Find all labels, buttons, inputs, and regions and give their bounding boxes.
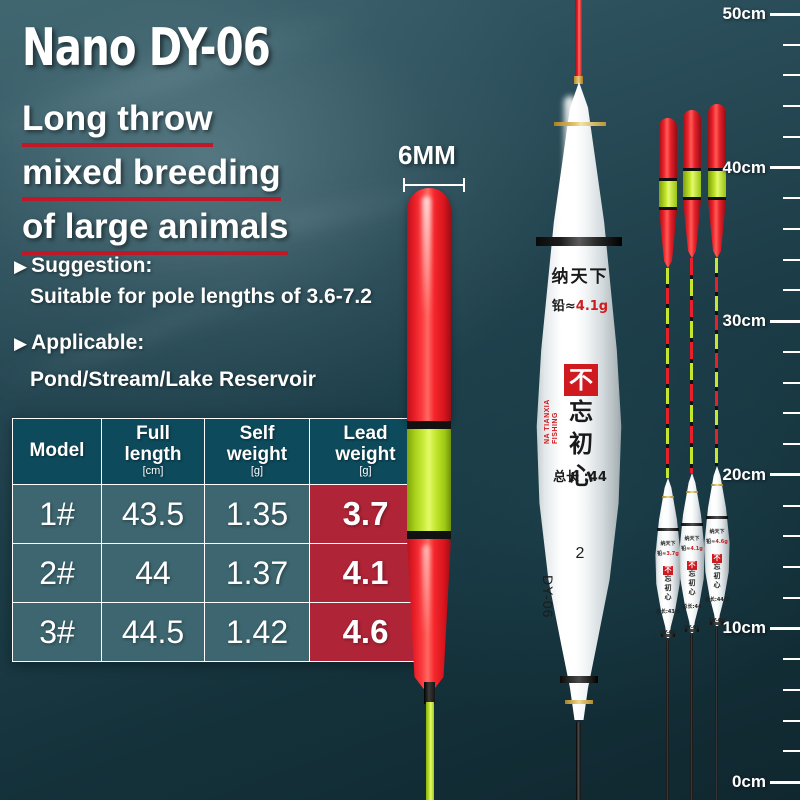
small-float-3-lead: 铅≈4.6g bbox=[703, 538, 731, 545]
main-float-antenna bbox=[575, 0, 582, 80]
red-float-upper-body bbox=[407, 188, 451, 424]
small-seal-char-1: 不 bbox=[663, 566, 673, 575]
small-float-2-seal: 不 忘 初 心 bbox=[687, 561, 697, 597]
small-seal-char-2: 忘 bbox=[663, 575, 673, 584]
cell-model: 1# bbox=[13, 485, 102, 544]
small-float-2-tip-lower bbox=[683, 200, 701, 258]
ruler-minor-tick bbox=[783, 720, 800, 722]
ruler-minor-tick bbox=[783, 505, 800, 507]
red-float-band-upper bbox=[407, 421, 451, 429]
ruler-minor-tick bbox=[783, 535, 800, 537]
main-float-seal-english: NA TIANXIA FISHING bbox=[544, 400, 558, 444]
ruler-minor-tick bbox=[783, 105, 800, 107]
measurement-ruler: 50cm40cm30cm20cm10cm0cm bbox=[738, 0, 800, 800]
subtitle-line-2: mixed breeding bbox=[22, 152, 281, 201]
ruler-minor-tick bbox=[783, 289, 800, 291]
main-float-black-band-bottom bbox=[560, 676, 598, 683]
main-float-product: 纳天下 铅≈4.1g 不 忘 初 心 NA TIANXIA FISHING 总长… bbox=[520, 0, 640, 800]
red-float-stem bbox=[426, 702, 434, 800]
column-header-self-weight: Self weight [g] bbox=[205, 419, 310, 485]
column-title-lead-weight: Lead weight bbox=[335, 423, 395, 465]
main-float-lead-value: 4.1g bbox=[576, 299, 608, 314]
ruler-minor-tick bbox=[783, 658, 800, 660]
small-seal-char-2: 忘 bbox=[712, 563, 722, 572]
ruler-label: 40cm bbox=[723, 158, 766, 178]
small-float-1-lead-label: 铅≈ bbox=[657, 551, 666, 557]
main-float-total-length: 总长 :44 bbox=[520, 466, 640, 485]
cell-self-weight: 1.35 bbox=[205, 485, 310, 544]
column-title-full-length: Full length bbox=[125, 423, 182, 465]
ruler-minor-tick bbox=[783, 412, 800, 414]
main-float-highlight bbox=[564, 96, 576, 396]
small-float-2-band-bottom bbox=[685, 629, 699, 632]
applicable-label: Applicable: bbox=[31, 331, 144, 354]
small-seal-char-1: 不 bbox=[687, 561, 697, 570]
dimension-label: 6MM bbox=[398, 140, 456, 171]
small-seal-char-3: 初 bbox=[712, 572, 722, 581]
product-poster: Nano DY-06 Long throw mixed breeding of … bbox=[0, 0, 800, 800]
red-float-green-section bbox=[407, 429, 451, 531]
small-seal-char-2: 忘 bbox=[687, 570, 697, 579]
ruler-minor-tick bbox=[783, 74, 800, 76]
table-row: 3# 44.5 1.42 4.6 bbox=[13, 603, 422, 662]
cell-model: 2# bbox=[13, 544, 102, 603]
small-float-2-lead-label: 铅≈ bbox=[681, 546, 690, 552]
bracket-line bbox=[403, 184, 465, 186]
ruler-minor-tick bbox=[783, 382, 800, 384]
small-seal-char-4: 心 bbox=[663, 593, 673, 602]
main-float-carbon-stem bbox=[576, 722, 581, 800]
ruler-major-tick bbox=[770, 166, 800, 169]
subtitle-line-3: of large animals bbox=[22, 206, 288, 255]
small-float-1-carbon-stem bbox=[666, 640, 669, 800]
page-title: Nano DY-06 bbox=[22, 18, 270, 78]
seal-en-line-1: NA TIANXIA bbox=[544, 400, 552, 444]
small-seal-char-1: 不 bbox=[712, 554, 722, 563]
ruler-minor-tick bbox=[783, 689, 800, 691]
column-unit-self-weight: [g] bbox=[211, 465, 303, 478]
cell-full-length: 43.5 bbox=[102, 485, 205, 544]
small-float-1-seal: 不 忘 初 心 bbox=[663, 566, 673, 602]
small-float-2-band-b bbox=[683, 197, 701, 200]
small-float-3-seal: 不 忘 初 心 bbox=[712, 554, 722, 590]
suggestion-label: Suggestion: bbox=[31, 254, 152, 277]
red-float-neck bbox=[424, 682, 435, 704]
table-row: 2# 44 1.37 4.1 bbox=[13, 544, 422, 603]
table-row: 1# 43.5 1.35 3.7 bbox=[13, 485, 422, 544]
small-float-3-black-band bbox=[706, 516, 728, 519]
small-seal-char-3: 初 bbox=[663, 584, 673, 593]
main-float-gold-band-bottom bbox=[565, 700, 593, 704]
ruler-label: 10cm bbox=[723, 618, 766, 638]
suggestion-heading: ▶Suggestion: bbox=[14, 254, 152, 278]
red-float-closeup bbox=[398, 188, 468, 800]
main-float-lead-text: 铅≈4.1g bbox=[520, 295, 640, 314]
ruler-minor-tick bbox=[783, 136, 800, 138]
seal-en-line-2: FISHING bbox=[552, 400, 560, 444]
cell-full-length: 44 bbox=[102, 544, 205, 603]
table-header-row: Model Full length [cm] Self weight [g] L… bbox=[13, 419, 422, 485]
column-unit-full-length: [cm] bbox=[108, 465, 198, 478]
small-float-3-antenna-stem bbox=[715, 258, 718, 466]
main-float-gold-band-top bbox=[554, 122, 606, 126]
applicable-text: Pond/Stream/Lake Reservoir bbox=[30, 368, 316, 392]
small-float-2-tip bbox=[683, 110, 701, 172]
small-float-3: 纳天下 铅≈4.6g 不 忘 初 心 总长:44.5 DY-06 bbox=[700, 104, 734, 800]
applicable-heading: ▶Applicable: bbox=[14, 331, 144, 355]
red-float-band-lower bbox=[407, 531, 451, 539]
small-float-1-band-bottom bbox=[661, 634, 675, 637]
ruler-minor-tick bbox=[783, 197, 800, 199]
ruler-label: 50cm bbox=[723, 4, 766, 24]
small-float-1-gold-band bbox=[662, 496, 674, 498]
suggestion-text: Suitable for pole lengths of 3.6-7.2 bbox=[30, 285, 372, 309]
ruler-label: 20cm bbox=[723, 465, 766, 485]
column-title-self-weight: Self weight bbox=[227, 423, 287, 465]
cell-self-weight: 1.37 bbox=[205, 544, 310, 603]
small-float-3-band-b bbox=[708, 197, 726, 200]
subtitle-line-1: Long throw bbox=[22, 98, 213, 147]
small-float-3-gold-band bbox=[711, 484, 723, 486]
ruler-label: 0cm bbox=[732, 772, 766, 792]
red-float-lower-body bbox=[407, 539, 451, 689]
main-float-model-code: DY-06 bbox=[540, 575, 556, 618]
cell-model: 3# bbox=[13, 603, 102, 662]
ruler-minor-tick bbox=[783, 351, 800, 353]
small-float-2-gold-band bbox=[686, 491, 698, 493]
ruler-major-tick bbox=[770, 473, 800, 476]
column-title-model: Model bbox=[30, 440, 85, 461]
column-header-full-length: Full length [cm] bbox=[102, 419, 205, 485]
main-float-size-number: 2 bbox=[520, 545, 640, 563]
ruler-minor-tick bbox=[783, 228, 800, 230]
ruler-major-tick bbox=[770, 320, 800, 323]
main-float-black-band bbox=[536, 237, 622, 246]
ruler-label: 30cm bbox=[723, 311, 766, 331]
ruler-major-tick bbox=[770, 627, 800, 630]
small-float-2-green bbox=[683, 171, 701, 197]
column-header-model: Model bbox=[13, 419, 102, 485]
seal-char-2: 忘 bbox=[564, 396, 598, 428]
ruler-minor-tick bbox=[783, 443, 800, 445]
small-float-2-antenna-stem bbox=[690, 258, 693, 473]
seal-char-1: 不 bbox=[564, 364, 598, 396]
triangle-bullet-icon-2: ▶ bbox=[14, 334, 27, 354]
ruler-minor-tick bbox=[783, 44, 800, 46]
small-float-3-carbon-stem bbox=[715, 628, 718, 800]
spec-table: Model Full length [cm] Self weight [g] L… bbox=[12, 418, 422, 662]
main-float-antenna-collar bbox=[574, 76, 583, 84]
ruler-minor-tick bbox=[783, 566, 800, 568]
ruler-major-tick bbox=[770, 781, 800, 784]
triangle-bullet-icon: ▶ bbox=[14, 257, 27, 277]
ruler-minor-tick bbox=[783, 750, 800, 752]
small-float-1-antenna-stem bbox=[666, 268, 669, 478]
small-float-3-total: 总长:44.5 bbox=[703, 596, 731, 603]
small-seal-char-4: 心 bbox=[712, 581, 722, 590]
small-seal-char-4: 心 bbox=[687, 588, 697, 597]
cell-self-weight: 1.42 bbox=[205, 603, 310, 662]
small-float-3-lead-label: 铅≈ bbox=[706, 539, 715, 545]
cell-full-length: 44.5 bbox=[102, 603, 205, 662]
seal-char-3: 初 bbox=[564, 428, 598, 460]
main-float-brand-text: 纳天下 bbox=[520, 262, 640, 287]
small-seal-char-3: 初 bbox=[687, 579, 697, 588]
small-float-3-brand: 纳天下 bbox=[703, 528, 731, 535]
ruler-minor-tick bbox=[783, 597, 800, 599]
small-float-2-carbon-stem bbox=[690, 635, 693, 800]
ruler-major-tick bbox=[770, 13, 800, 16]
small-float-3-tip-lower bbox=[708, 200, 726, 258]
small-float-3-lead-value: 4.6g bbox=[715, 539, 727, 545]
subtitle-block: Long throw mixed breeding of large anima… bbox=[22, 98, 288, 260]
main-float-lead-label: 铅≈ bbox=[552, 299, 576, 314]
ruler-minor-tick bbox=[783, 259, 800, 261]
